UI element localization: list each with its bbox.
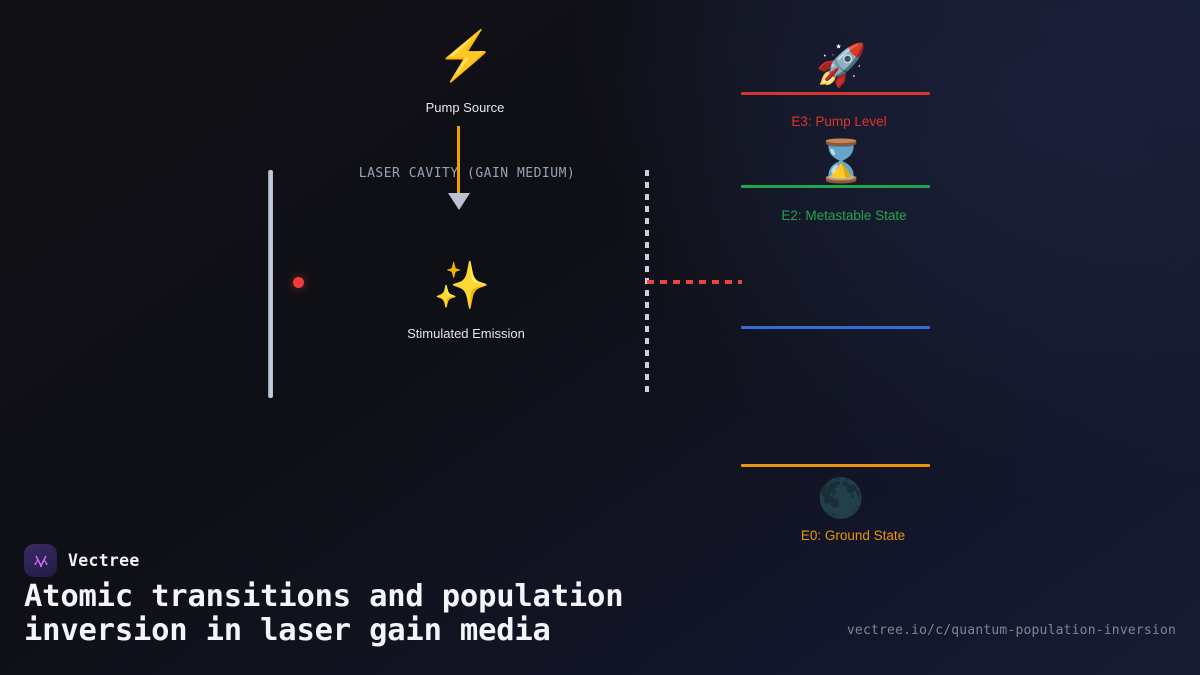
headline: Atomic transitions and population invers… bbox=[24, 580, 794, 649]
headline-line-1: Atomic transitions and population bbox=[24, 580, 794, 614]
laser-cavity-title: LASER CAVITY (GAIN MEDIUM) bbox=[312, 166, 622, 181]
sparkles-icon: ✨ bbox=[421, 262, 503, 308]
source-url: vectree.io/c/quantum-population-inversio… bbox=[847, 623, 1176, 638]
high-voltage-icon: ⚡ bbox=[425, 33, 507, 81]
pump-beam-arrowhead-icon bbox=[448, 193, 470, 210]
pump-source-label: Pump Source bbox=[365, 100, 565, 115]
vectree-logo-icon bbox=[24, 544, 57, 577]
pump-beam-line bbox=[457, 126, 460, 196]
photon-particle bbox=[293, 277, 304, 288]
energy-level-line-e2 bbox=[741, 185, 930, 188]
energy-level-line-e0 bbox=[741, 464, 930, 467]
rocket-icon: 🚀 bbox=[806, 45, 876, 86]
energy-level-line-e1 bbox=[741, 326, 930, 329]
brand-name: Vectree bbox=[68, 551, 140, 570]
energy-level-line-e3 bbox=[741, 92, 930, 95]
energy-level-label-e0: E0: Ground State bbox=[764, 528, 942, 543]
high-reflector-mirror bbox=[268, 170, 273, 398]
headline-line-2: inversion in laser gain media bbox=[24, 614, 794, 648]
energy-level-label-e2: E2: Metastable State bbox=[755, 208, 933, 223]
screenshot-canvas: ⚡ Pump Source LASER CAVITY (GAIN MEDIUM)… bbox=[0, 0, 1200, 675]
energy-level-label-e3: E3: Pump Level bbox=[750, 114, 928, 129]
brand-block: Vectree bbox=[24, 544, 140, 577]
hourglass-icon: ⌛ bbox=[806, 141, 876, 182]
stimulated-emission-label: Stimulated Emission bbox=[366, 326, 566, 341]
full-moon-icon: 🌑 bbox=[812, 480, 870, 518]
emitted-laser-beam bbox=[647, 280, 742, 284]
